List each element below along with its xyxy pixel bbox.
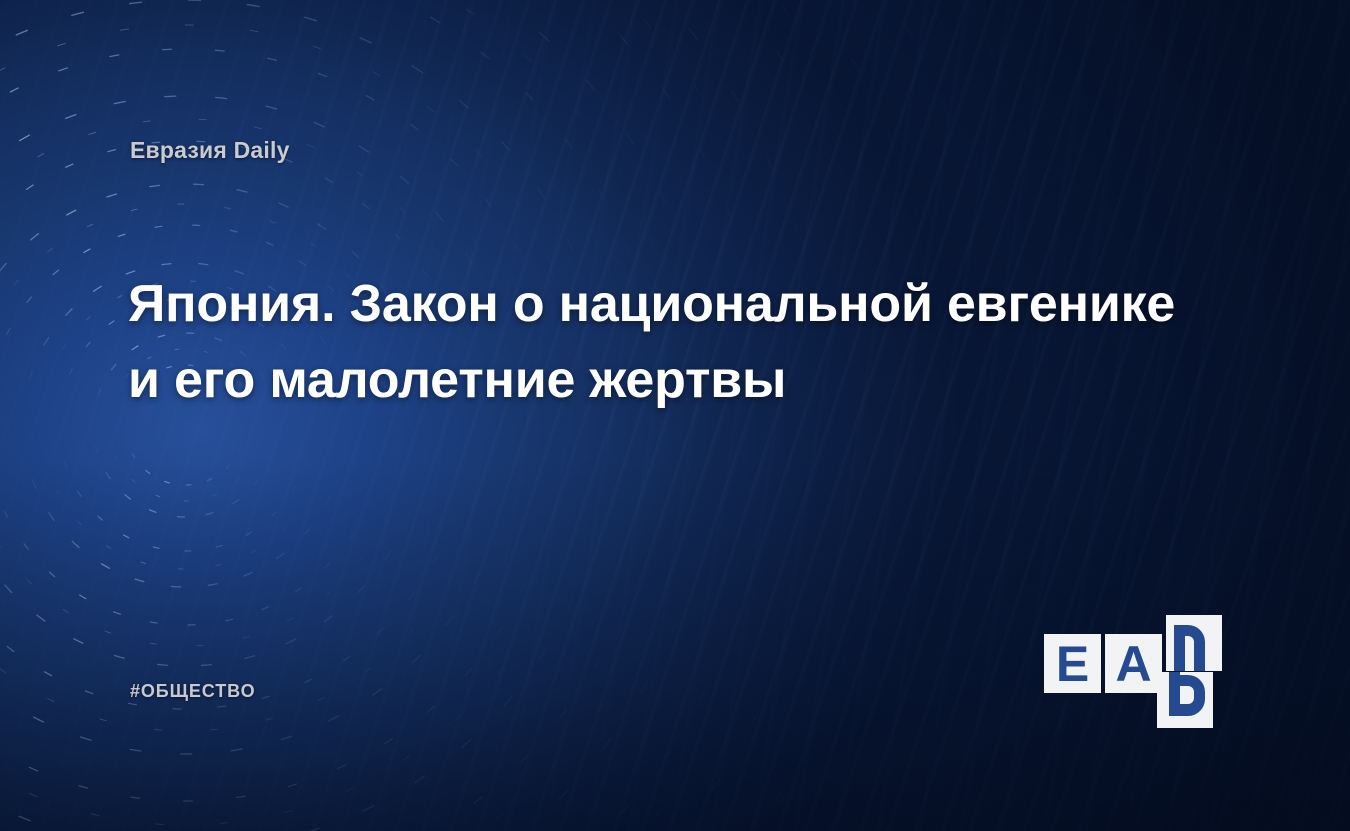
headline-line-1: Япония. Закон о национальной евгенике	[128, 275, 1175, 333]
logo-tile-e: E	[1044, 634, 1101, 693]
page-title: Япония. Закон о национальной евгенике и …	[128, 266, 1248, 418]
article-cover-card: Евразия Daily Япония. Закон о национальн…	[0, 0, 1350, 831]
brand-wordmark: Евразия Daily	[130, 137, 290, 164]
logo-letter-a: A	[1115, 639, 1151, 689]
category-tag[interactable]: #ОБЩЕСТВО	[130, 681, 256, 702]
logo-tile-d-upper	[1166, 615, 1222, 671]
logo-tile-d-lower	[1157, 672, 1213, 728]
ead-logo: E A	[1044, 615, 1222, 707]
headline-line-2: и его малолетние жертвы	[128, 351, 786, 409]
logo-tile-a: A	[1105, 634, 1162, 693]
logo-letter-e: E	[1056, 639, 1089, 689]
card-content: Евразия Daily Япония. Закон о национальн…	[0, 0, 1350, 831]
